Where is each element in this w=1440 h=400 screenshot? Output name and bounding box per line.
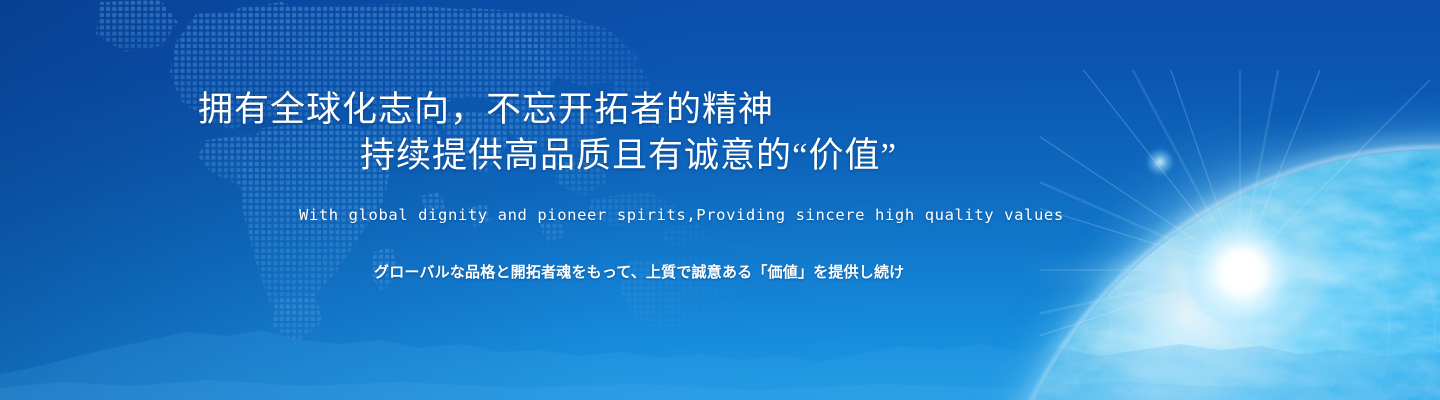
light-point-icon xyxy=(1146,148,1174,176)
hero-banner: 拥有全球化志向，不忘开拓者的精神 持续提供高品质且有诚意的“价值” With g… xyxy=(0,0,1440,400)
mountain-silhouette-icon xyxy=(0,310,1440,400)
